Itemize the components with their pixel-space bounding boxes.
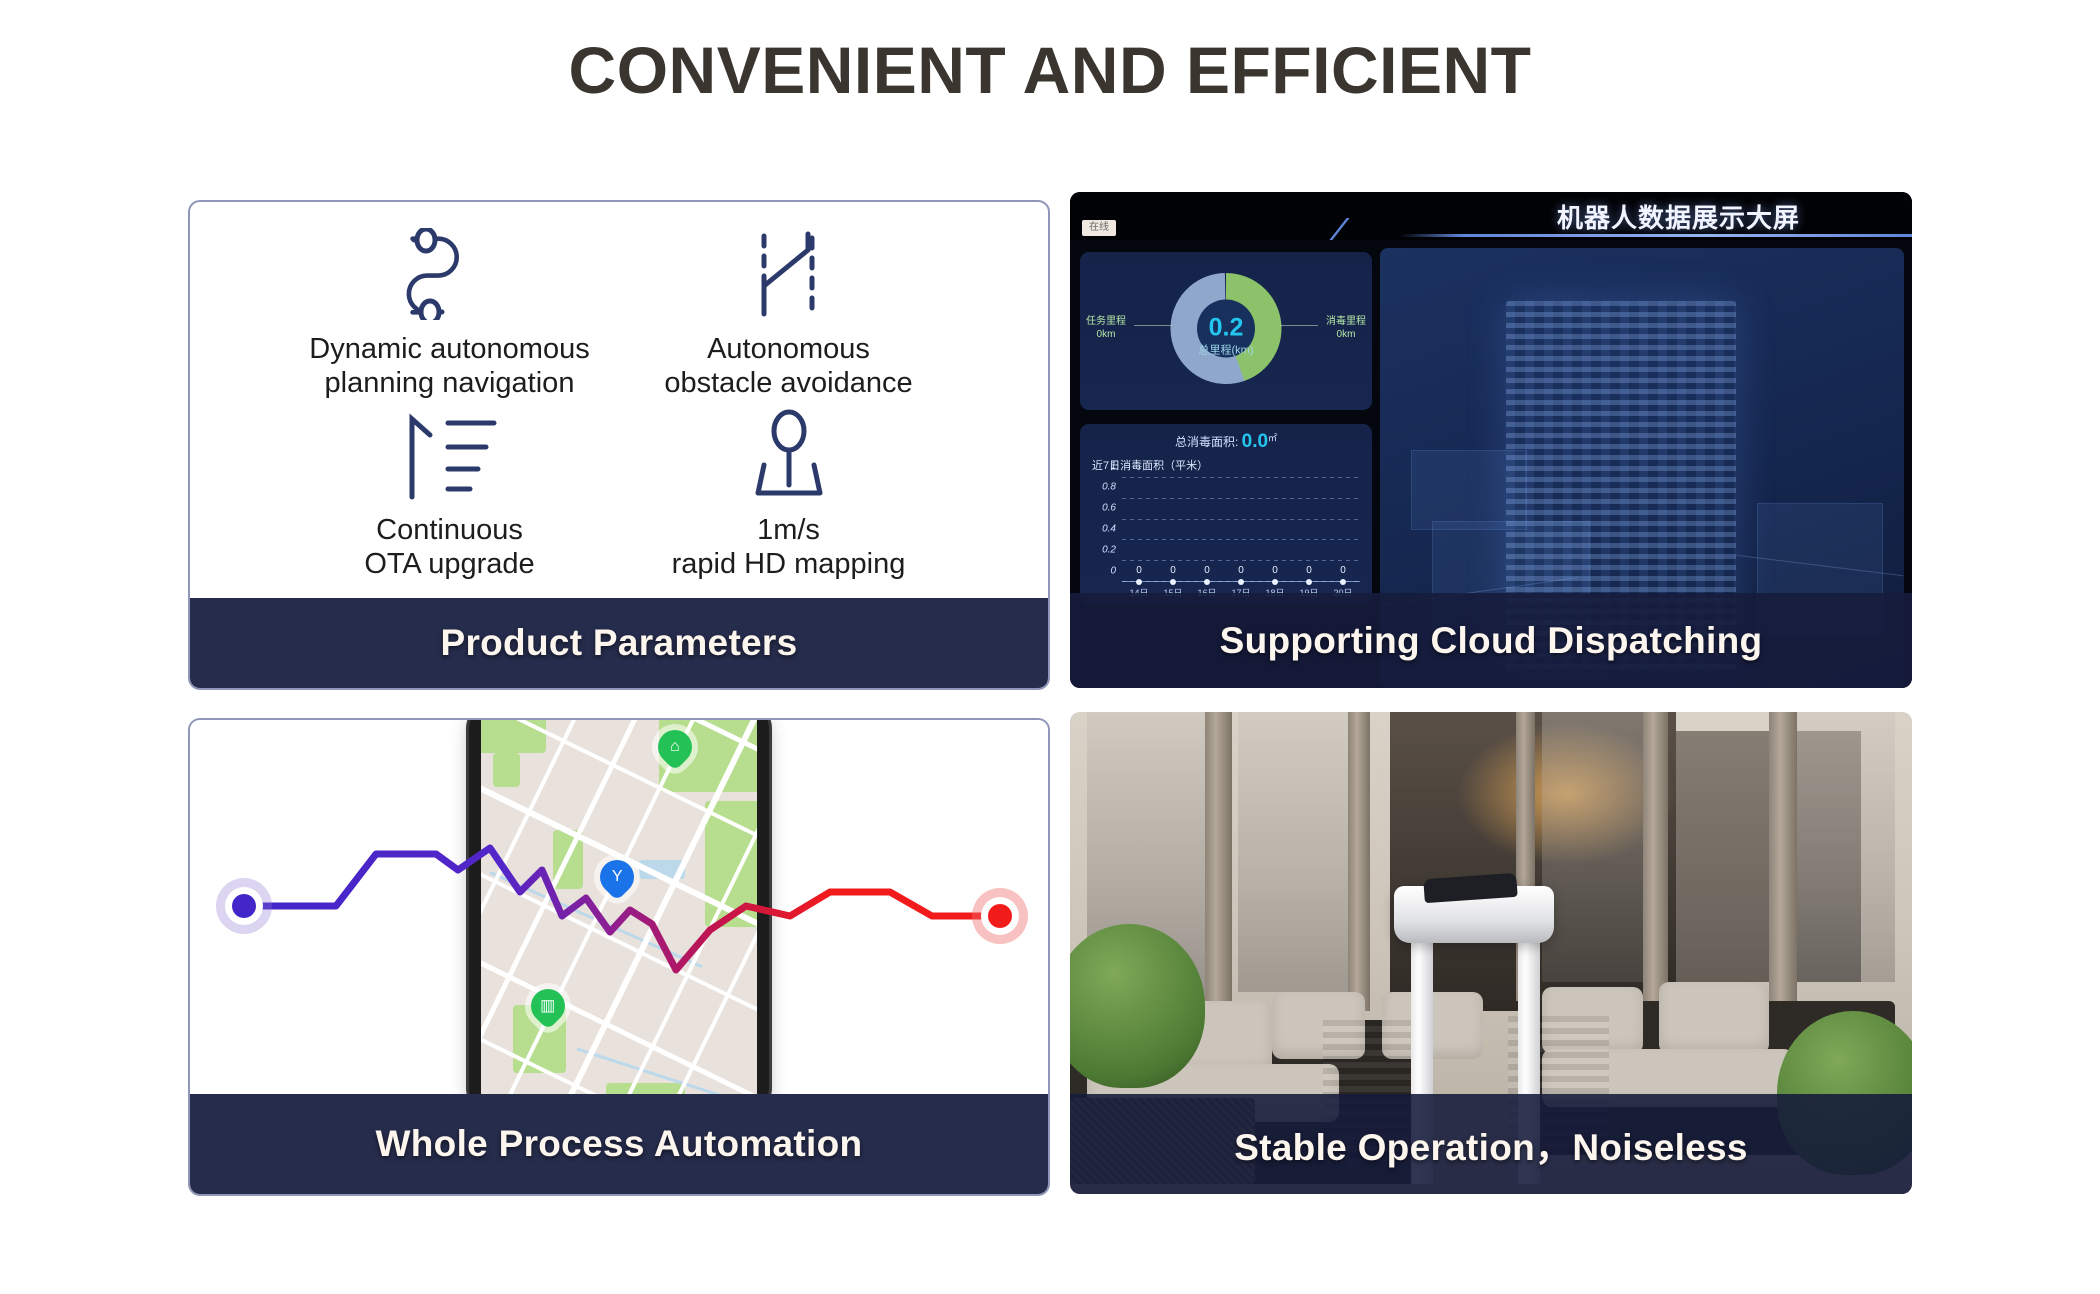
- data-point: [1170, 579, 1176, 585]
- y-axis-tick: 0.6: [1102, 503, 1116, 514]
- phone-screen: ⌂ Y ▥: [481, 720, 757, 1110]
- data-label: 0: [1204, 565, 1210, 576]
- feature-label: Autonomous obstacle avoidance: [664, 332, 912, 400]
- drink-pin-glyph: Y: [611, 869, 622, 885]
- feature-dynamic-planning: Dynamic autonomous planning navigation: [280, 228, 619, 409]
- card-stable-operation[interactable]: Stable Operation，Noiseless: [1068, 710, 1914, 1196]
- poster-root: CONVENIENT AND EFFICIENT: [0, 0, 2100, 1294]
- dashboard-topbar: 机器人数据展示大屏: [1070, 192, 1912, 240]
- task-mileage-label: 任务里程: [1086, 316, 1126, 329]
- map-canvas: [481, 720, 757, 1110]
- home-pin-glyph: ⌂: [670, 739, 680, 755]
- data-point: [1238, 579, 1244, 585]
- building-pin-glyph: ▥: [540, 998, 555, 1014]
- donut-center-label: 总里程(km): [1167, 342, 1285, 358]
- data-label: 0: [1136, 565, 1142, 576]
- card-footer-cloud-dispatching: Supporting Cloud Dispatching: [1070, 593, 1912, 688]
- card-body: 机器人数据展示大屏 在线 0.2 总里程(km): [1070, 192, 1912, 688]
- task-mileage-value: 0km: [1086, 329, 1126, 342]
- gridline: 1: [1122, 477, 1360, 478]
- donut-label-disinfect: 消毒里程 0km: [1326, 316, 1366, 341]
- card-footer-stable-operation: Stable Operation，Noiseless: [1070, 1094, 1912, 1194]
- headline-label: 总消毒面积:: [1175, 435, 1238, 449]
- disinfection-area-panel: 总消毒面积: 0.0㎡ 近7日消毒面积（平米） 00.20.40.60.81 0…: [1080, 424, 1372, 604]
- data-label: 0: [1306, 565, 1312, 576]
- route-planning-icon: [386, 228, 514, 320]
- donut-chart: 0.2 总里程(km): [1167, 270, 1285, 393]
- data-label: 0: [1238, 565, 1244, 576]
- route-start-point: [216, 878, 272, 934]
- feature-label: Continuous OTA upgrade: [364, 513, 534, 581]
- feature-label: Dynamic autonomous planning navigation: [309, 332, 589, 400]
- chart-subtitle: 近7日消毒面积（平米）: [1092, 457, 1208, 473]
- disinfect-mileage-value: 0km: [1326, 329, 1366, 342]
- data-point: [1272, 579, 1278, 585]
- page-title: CONVENIENT AND EFFICIENT: [0, 32, 2100, 108]
- data-point: [1340, 579, 1346, 585]
- card-footer-product-parameters: Product Parameters: [190, 598, 1048, 688]
- card-product-parameters[interactable]: Dynamic autonomous planning navigation A…: [188, 200, 1050, 690]
- card-body: Dynamic autonomous planning navigation A…: [190, 202, 1048, 688]
- gridline: 0.2: [1122, 560, 1360, 561]
- gridline: 0.6: [1122, 519, 1360, 520]
- donut-leader-left: [1134, 325, 1172, 326]
- phone-mockup: ⌂ Y ▥: [469, 720, 769, 1110]
- card-cloud-dispatching[interactable]: 机器人数据展示大屏 在线 0.2 总里程(km): [1068, 190, 1914, 690]
- data-label: 0: [1340, 565, 1346, 576]
- card-body: Stable Operation，Noiseless: [1070, 712, 1912, 1194]
- ota-upgrade-icon: [390, 409, 510, 501]
- card-whole-process-automation[interactable]: ⌂ Y ▥: [188, 718, 1050, 1196]
- dashboard-title: 机器人数据展示大屏: [1557, 198, 1800, 235]
- donut-label-task: 任务里程 0km: [1086, 316, 1126, 341]
- mileage-donut-panel: 0.2 总里程(km) 任务里程 0km 消毒里程 0km: [1080, 252, 1372, 410]
- topbar-notch: [1329, 218, 1426, 240]
- headline-unit: ㎡: [1268, 433, 1277, 443]
- data-point: [1136, 579, 1142, 585]
- data-label: 0: [1272, 565, 1278, 576]
- weekly-area-chart: 00.20.40.60.81 014日015日016日017日018日019日0…: [1122, 478, 1360, 582]
- donut-leader-right: [1280, 325, 1318, 326]
- start-dot: [232, 894, 256, 918]
- gridline: 0.8: [1122, 498, 1360, 499]
- y-axis-tick: 0: [1110, 566, 1116, 577]
- disinfect-mileage-label: 消毒里程: [1326, 316, 1366, 329]
- y-axis-tick: 1: [1110, 461, 1116, 472]
- data-point: [1306, 579, 1312, 585]
- y-axis-tick: 0.2: [1102, 545, 1116, 556]
- total-disinfection-headline: 总消毒面积: 0.0㎡: [1080, 431, 1372, 453]
- data-point: [1204, 579, 1210, 585]
- obstacle-avoidance-icon: [734, 228, 844, 320]
- feature-hd-mapping: 1m/s rapid HD mapping: [619, 409, 958, 590]
- feature-obstacle-avoidance: Autonomous obstacle avoidance: [619, 228, 958, 409]
- card-footer-whole-process-automation: Whole Process Automation: [190, 1094, 1048, 1194]
- headline-value: 0.0: [1242, 431, 1268, 452]
- feature-grid: Dynamic autonomous planning navigation A…: [190, 202, 1048, 598]
- feature-label: 1m/s rapid HD mapping: [672, 513, 906, 581]
- donut-center-value: 0.2: [1167, 314, 1285, 343]
- online-status-badge: 在线: [1082, 220, 1116, 236]
- y-axis-tick: 0.8: [1102, 482, 1116, 493]
- end-dot: [988, 904, 1012, 928]
- card-body: ⌂ Y ▥: [190, 720, 1048, 1194]
- data-label: 0: [1170, 565, 1176, 576]
- y-axis-tick: 0.4: [1102, 524, 1116, 535]
- feature-ota-upgrade: Continuous OTA upgrade: [280, 409, 619, 590]
- hd-mapping-icon: [734, 409, 844, 501]
- gridline: 0.4: [1122, 539, 1360, 540]
- route-end-point: [972, 888, 1028, 944]
